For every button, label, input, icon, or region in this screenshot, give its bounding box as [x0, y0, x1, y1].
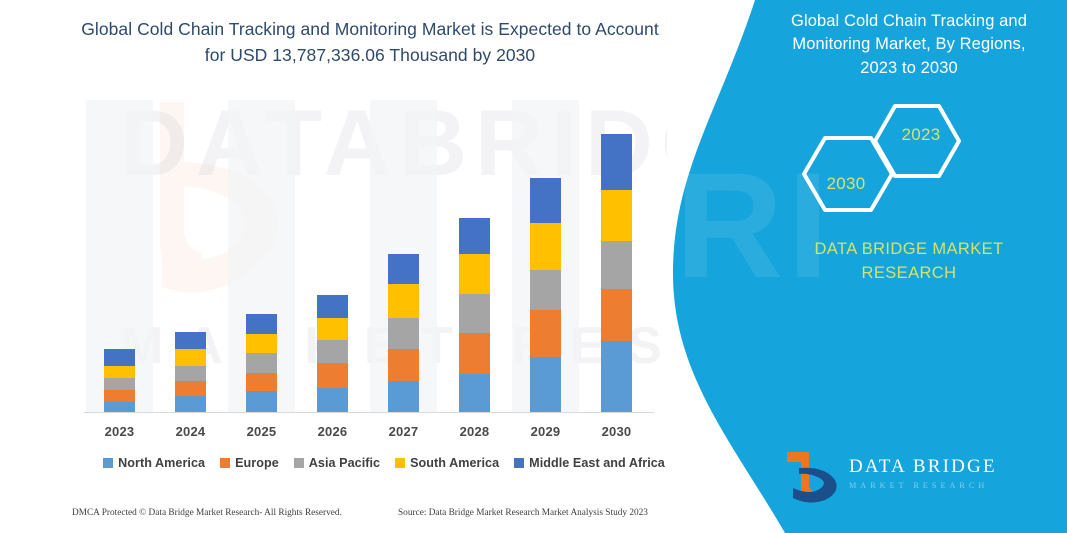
legend-item-1[interactable]: Europe [220, 456, 279, 470]
bar-segment[interactable] [388, 254, 419, 284]
bar-segment[interactable] [530, 223, 561, 270]
bar-segment[interactable] [601, 289, 632, 341]
chart-legend: North AmericaEuropeAsia PacificSouth Ame… [84, 456, 684, 470]
hexagon-2023-label: 2023 [901, 125, 940, 145]
legend-swatch-icon [294, 458, 304, 468]
chart-panel: DATABRIDGE MARKET RESEARCH Global Cold C… [0, 0, 720, 533]
bar-segment[interactable] [388, 318, 419, 349]
bar-segment[interactable] [246, 314, 277, 334]
panel-brand-line-1: DATA BRIDGE MARKET [759, 238, 1059, 262]
bar-segment[interactable] [104, 349, 135, 366]
bar-segment[interactable] [317, 318, 348, 340]
x-tick-2029: 2029 [516, 424, 576, 439]
bar-segment[interactable] [388, 349, 419, 381]
bar-segment[interactable] [246, 373, 277, 391]
bar-segment[interactable] [388, 284, 419, 318]
bar-2023[interactable] [104, 349, 135, 413]
bar-segment[interactable] [530, 357, 561, 413]
x-tick-2025: 2025 [232, 424, 292, 439]
bar-segment[interactable] [175, 332, 206, 349]
bar-2030[interactable] [601, 134, 632, 413]
bar-segment[interactable] [530, 178, 561, 223]
bar-segment[interactable] [601, 134, 632, 190]
legend-swatch-icon [514, 458, 524, 468]
infographic-root: DATABRIDGE MARKET RESEARCH Global Cold C… [0, 0, 1067, 533]
x-axis-line [84, 412, 654, 413]
panel-brand-text: DATA BRIDGE MARKET RESEARCH [759, 238, 1059, 286]
logo-subtitle: MARKET RESEARCH [849, 481, 997, 490]
bar-segment[interactable] [317, 363, 348, 388]
bar-segment[interactable] [317, 295, 348, 318]
legend-label: North America [118, 456, 205, 470]
bar-segment[interactable] [601, 241, 632, 289]
page-title-line-2: for USD 13,787,336.06 Thousand by 2030 [50, 42, 690, 68]
bar-segment[interactable] [459, 333, 490, 374]
bar-segment[interactable] [175, 396, 206, 413]
bar-2025[interactable] [246, 314, 277, 413]
legend-item-4[interactable]: Middle East and Africa [514, 456, 665, 470]
panel-brand-line-2: RESEARCH [759, 262, 1059, 286]
panel-title-line-3: 2023 to 2030 [759, 57, 1059, 80]
panel-title-line-1: Global Cold Chain Tracking and [759, 10, 1059, 33]
panel-title: Global Cold Chain Tracking and Monitorin… [759, 10, 1059, 80]
bar-segment[interactable] [459, 294, 490, 333]
bar-segment[interactable] [175, 366, 206, 381]
bar-segment[interactable] [246, 391, 277, 413]
bar-segment[interactable] [317, 340, 348, 363]
bar-segment[interactable] [246, 334, 277, 353]
footer-source: Source: Data Bridge Market Research Mark… [398, 508, 648, 518]
legend-label: South America [410, 456, 499, 470]
x-tick-2030: 2030 [587, 424, 647, 439]
legend-swatch-icon [103, 458, 113, 468]
legend-item-0[interactable]: North America [103, 456, 205, 470]
page-title-line-1: Global Cold Chain Tracking and Monitorin… [50, 16, 690, 42]
x-tick-2023: 2023 [90, 424, 150, 439]
x-tick-2027: 2027 [374, 424, 434, 439]
hexagon-2023: 2023 [873, 102, 961, 180]
logo-name: DATA BRIDGE [849, 456, 997, 478]
bar-segment[interactable] [175, 349, 206, 366]
bar-segment[interactable] [601, 341, 632, 413]
bar-segment[interactable] [459, 374, 490, 413]
bar-segment[interactable] [530, 310, 561, 357]
hexagon-2030-label: 2030 [826, 174, 865, 194]
bar-segment[interactable] [246, 353, 277, 373]
legend-label: Middle East and Africa [529, 456, 665, 470]
bar-2028[interactable] [459, 218, 490, 413]
bar-2029[interactable] [530, 178, 561, 413]
legend-label: Europe [235, 456, 279, 470]
hexagon-group: 2030 2023 [777, 102, 1067, 217]
footer: DMCA Protected © Data Bridge Market Rese… [0, 508, 700, 530]
bar-segment[interactable] [601, 190, 632, 241]
legend-swatch-icon [395, 458, 405, 468]
panel-content: Global Cold Chain Tracking and Monitorin… [759, 0, 1067, 533]
bar-segment[interactable] [175, 381, 206, 396]
footer-copyright: DMCA Protected © Data Bridge Market Rese… [72, 508, 342, 518]
bar-2026[interactable] [317, 295, 348, 413]
legend-item-3[interactable]: South America [395, 456, 499, 470]
data-bridge-logo-icon [779, 448, 841, 506]
bar-segment[interactable] [317, 388, 348, 413]
x-tick-2024: 2024 [161, 424, 221, 439]
panel-title-line-2: Monitoring Market, By Regions, [759, 33, 1059, 56]
bar-segment[interactable] [104, 390, 135, 402]
right-blue-panel: RI Global Cold Chain Tracking and Monito… [667, 0, 1067, 533]
legend-item-2[interactable]: Asia Pacific [294, 456, 380, 470]
legend-swatch-icon [220, 458, 230, 468]
x-tick-2026: 2026 [303, 424, 363, 439]
bar-segment[interactable] [388, 381, 419, 413]
bar-segment[interactable] [104, 378, 135, 390]
plot-area [84, 100, 652, 413]
company-logo: DATA BRIDGE MARKET RESEARCH [779, 446, 1049, 508]
bar-2024[interactable] [175, 332, 206, 413]
page-title: Global Cold Chain Tracking and Monitorin… [50, 16, 690, 69]
logo-text-block: DATA BRIDGE MARKET RESEARCH [849, 456, 997, 490]
bar-segment[interactable] [104, 366, 135, 378]
bar-segment[interactable] [530, 270, 561, 310]
x-tick-2028: 2028 [445, 424, 505, 439]
x-axis-labels: 20232024202520262027202820292030 [84, 424, 654, 446]
bar-segment[interactable] [459, 218, 490, 254]
bar-2027[interactable] [388, 254, 419, 413]
legend-label: Asia Pacific [309, 456, 380, 470]
bar-segment[interactable] [459, 254, 490, 294]
